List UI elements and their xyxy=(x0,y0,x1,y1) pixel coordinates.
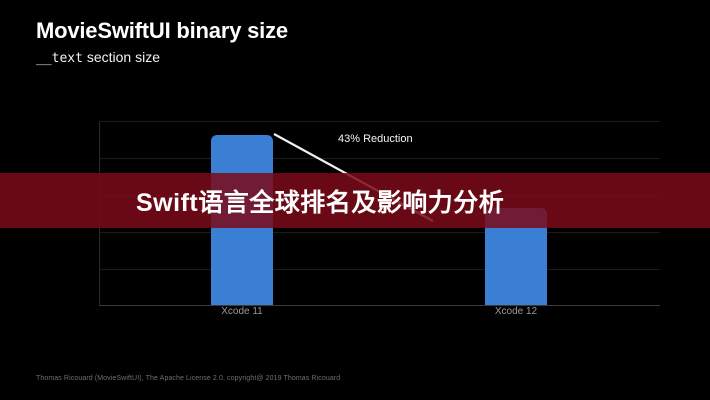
gridline xyxy=(99,158,660,159)
overlay-banner: Swift语言全球排名及影响力分析 xyxy=(0,173,710,228)
gridline xyxy=(99,121,660,122)
page-title: MovieSwiftUI binary size xyxy=(36,18,288,44)
chart-subtitle-section-name: __text xyxy=(36,51,83,66)
gridline xyxy=(99,232,660,233)
footer-credit: Thomas Ricouard (MovieSwiftUI), The Apac… xyxy=(36,375,340,382)
overlay-banner-title: Swift语言全球排名及影响力分析 xyxy=(136,183,504,219)
annotation-label-reduction: 43% Reduction xyxy=(338,133,413,145)
chart-subtitle: __text section size xyxy=(36,49,160,66)
x-axis-label-xcode-11: Xcode 11 xyxy=(192,306,292,317)
x-axis-label-xcode-12: Xcode 12 xyxy=(466,306,566,317)
chart-screenshot: MovieSwiftUI binary size __text section … xyxy=(0,0,710,400)
chart-subtitle-suffix: section size xyxy=(83,49,160,65)
x-axis-line xyxy=(99,305,660,306)
gridline xyxy=(99,269,660,270)
